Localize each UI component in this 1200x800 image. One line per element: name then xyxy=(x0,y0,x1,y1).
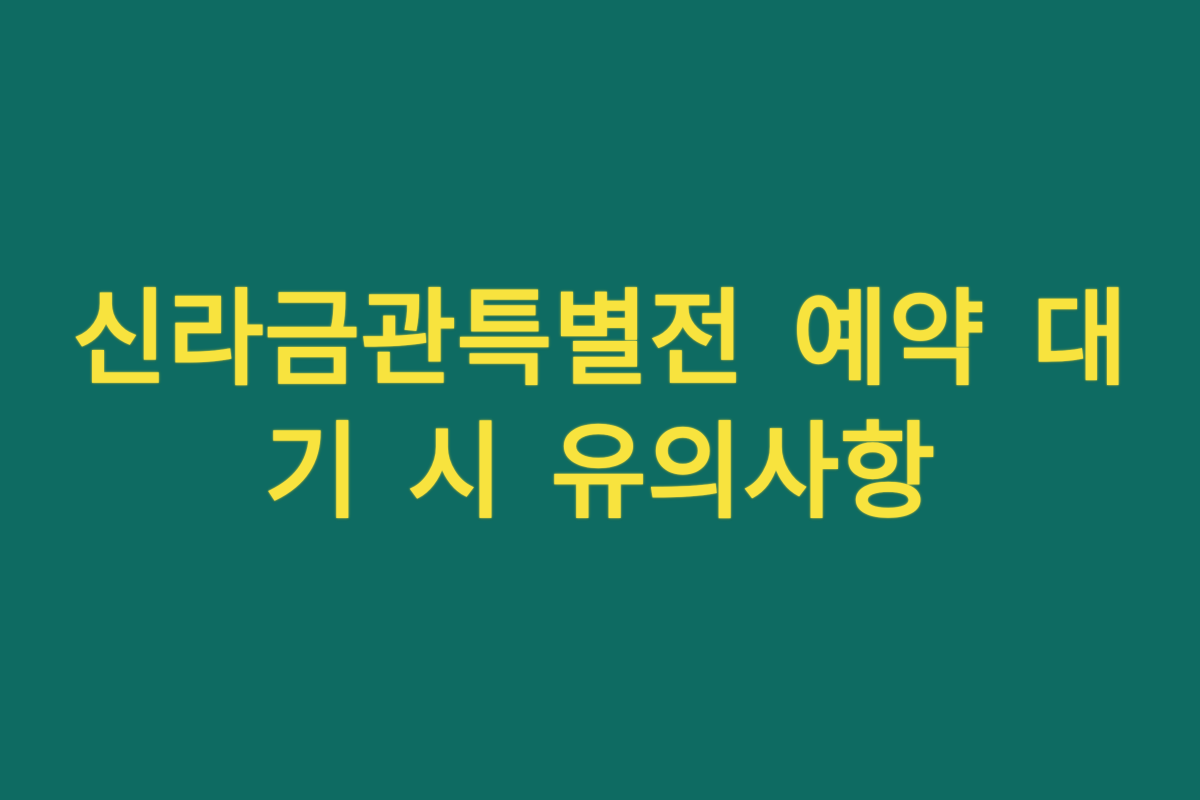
banner-card: 신라금관특별전 예약 대기 시 유의사항 xyxy=(0,0,1200,800)
headline-block: 신라금관특별전 예약 대기 시 유의사항 xyxy=(70,273,1130,539)
page-title: 신라금관특별전 예약 대기 시 유의사항 xyxy=(70,273,1130,539)
